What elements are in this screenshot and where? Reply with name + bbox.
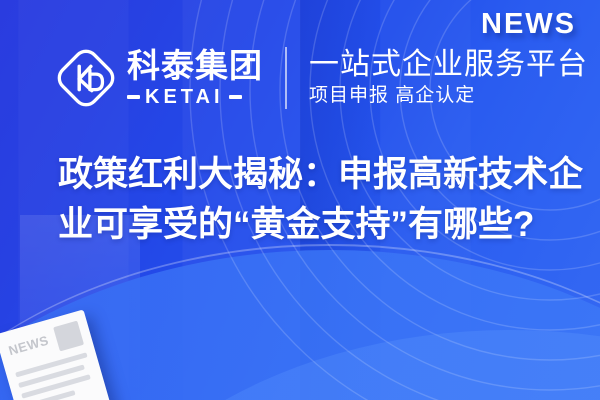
newspaper-title: NEWS <box>7 333 50 357</box>
headline-line-1: 政策红利大揭秘：申报高新技术企 <box>58 150 558 200</box>
slogan-main-text: 一站式企业服务平台 <box>309 48 588 82</box>
header-divider <box>285 47 287 109</box>
brand-logo-wordmark: 科泰集团 KETAI <box>127 49 263 107</box>
brand-name-en: KETAI <box>145 87 224 107</box>
ketai-diamond-kd-logo-icon <box>55 47 117 109</box>
article-thumbnail-placeholder <box>53 321 84 352</box>
news-banner: NEWS 科泰集团 KETAI <box>0 0 600 400</box>
brand-name-en-row: KETAI <box>127 87 263 107</box>
headline-block: 政策红利大揭秘：申报高新技术企 业可享受的“黄金支持”有哪些? <box>58 150 558 249</box>
banner-header: 科泰集团 KETAI 一站式企业服务平台 项目申报 高企认定 <box>0 38 600 118</box>
slogan-block: 一站式企业服务平台 项目申报 高企认定 <box>309 48 588 108</box>
headline-line-2: 业可享受的“黄金支持”有哪些? <box>58 200 558 250</box>
dash-left-icon <box>127 95 140 99</box>
dash-right-icon <box>229 95 242 99</box>
slogan-sub-text: 项目申报 高企认定 <box>309 84 588 108</box>
brand-name-cn: 科泰集团 <box>127 49 263 84</box>
news-badge: NEWS <box>481 8 576 41</box>
brand-logo[interactable]: 科泰集团 KETAI <box>55 47 263 109</box>
